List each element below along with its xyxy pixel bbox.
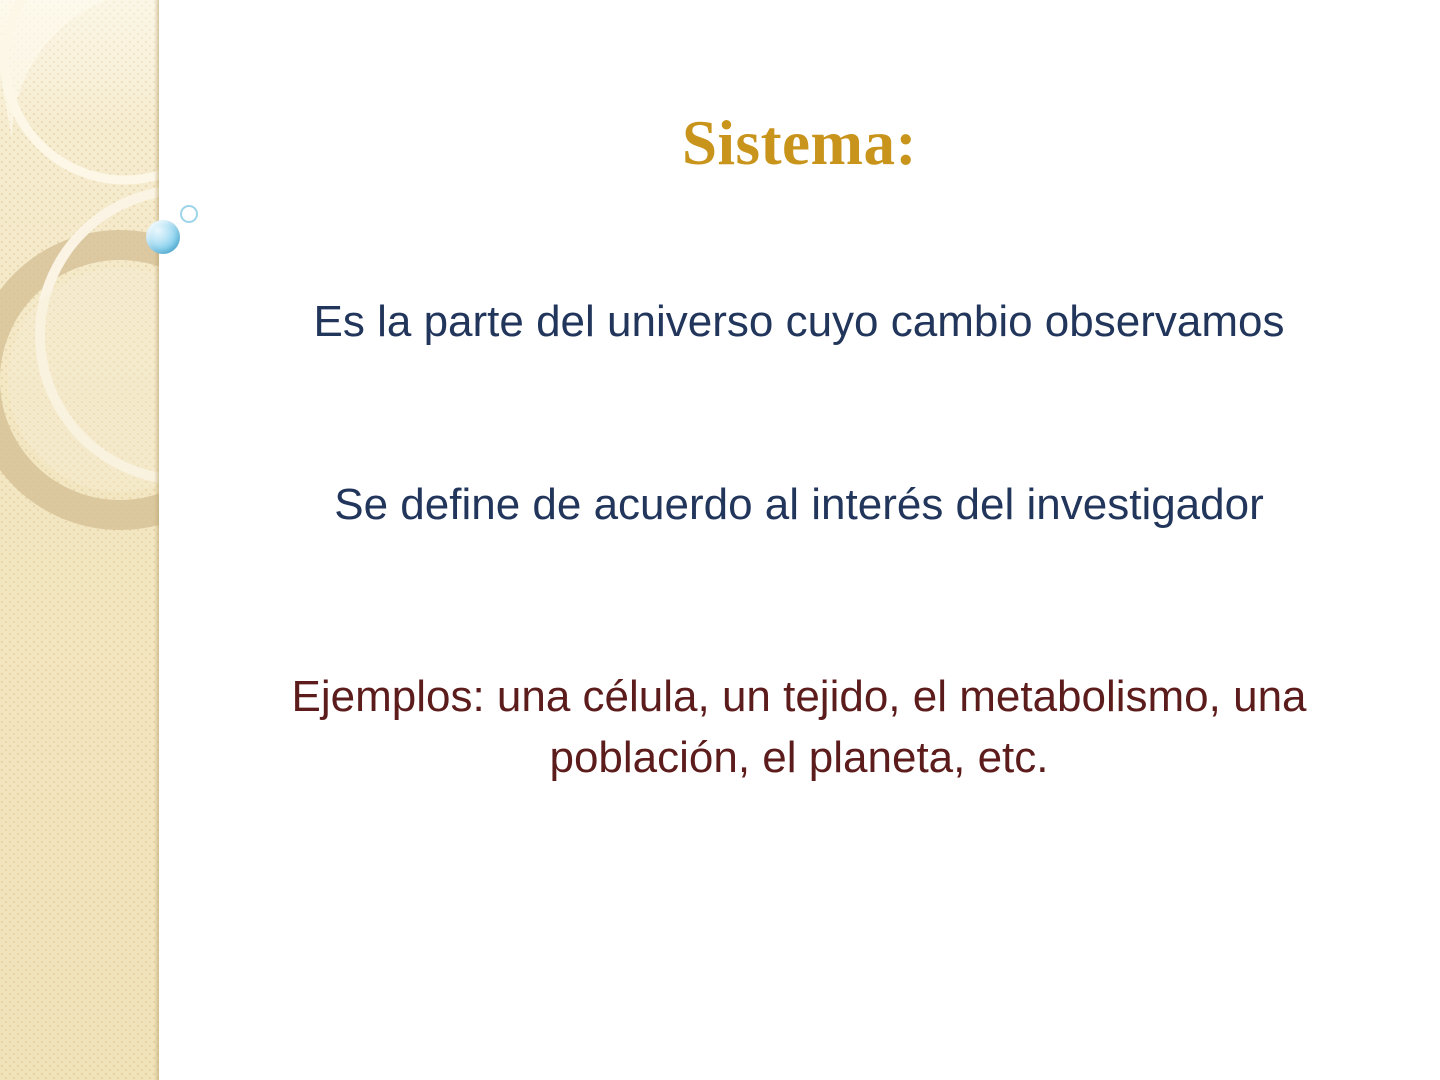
- paragraph-examples: Ejemplos: una célula, un tejido, el meta…: [289, 667, 1309, 788]
- slide-canvas: Sistema: Es la parte del universo cuyo c…: [0, 0, 1440, 1080]
- decorative-sidebar-panel: [0, 0, 159, 1080]
- paragraph-definition: Es la parte del universo cuyo cambio obs…: [289, 292, 1309, 353]
- slide-content: Sistema: Es la parte del universo cuyo c…: [159, 0, 1440, 1080]
- sidebar-ring-fill: [8, 268, 159, 492]
- page-title: Sistema:: [159, 110, 1440, 176]
- slide-body: Es la parte del universo cuyo cambio obs…: [289, 292, 1309, 789]
- sidebar-ring-decorations: [0, 0, 159, 1080]
- paragraph-criterion: Se define de acuerdo al interés del inve…: [289, 475, 1309, 536]
